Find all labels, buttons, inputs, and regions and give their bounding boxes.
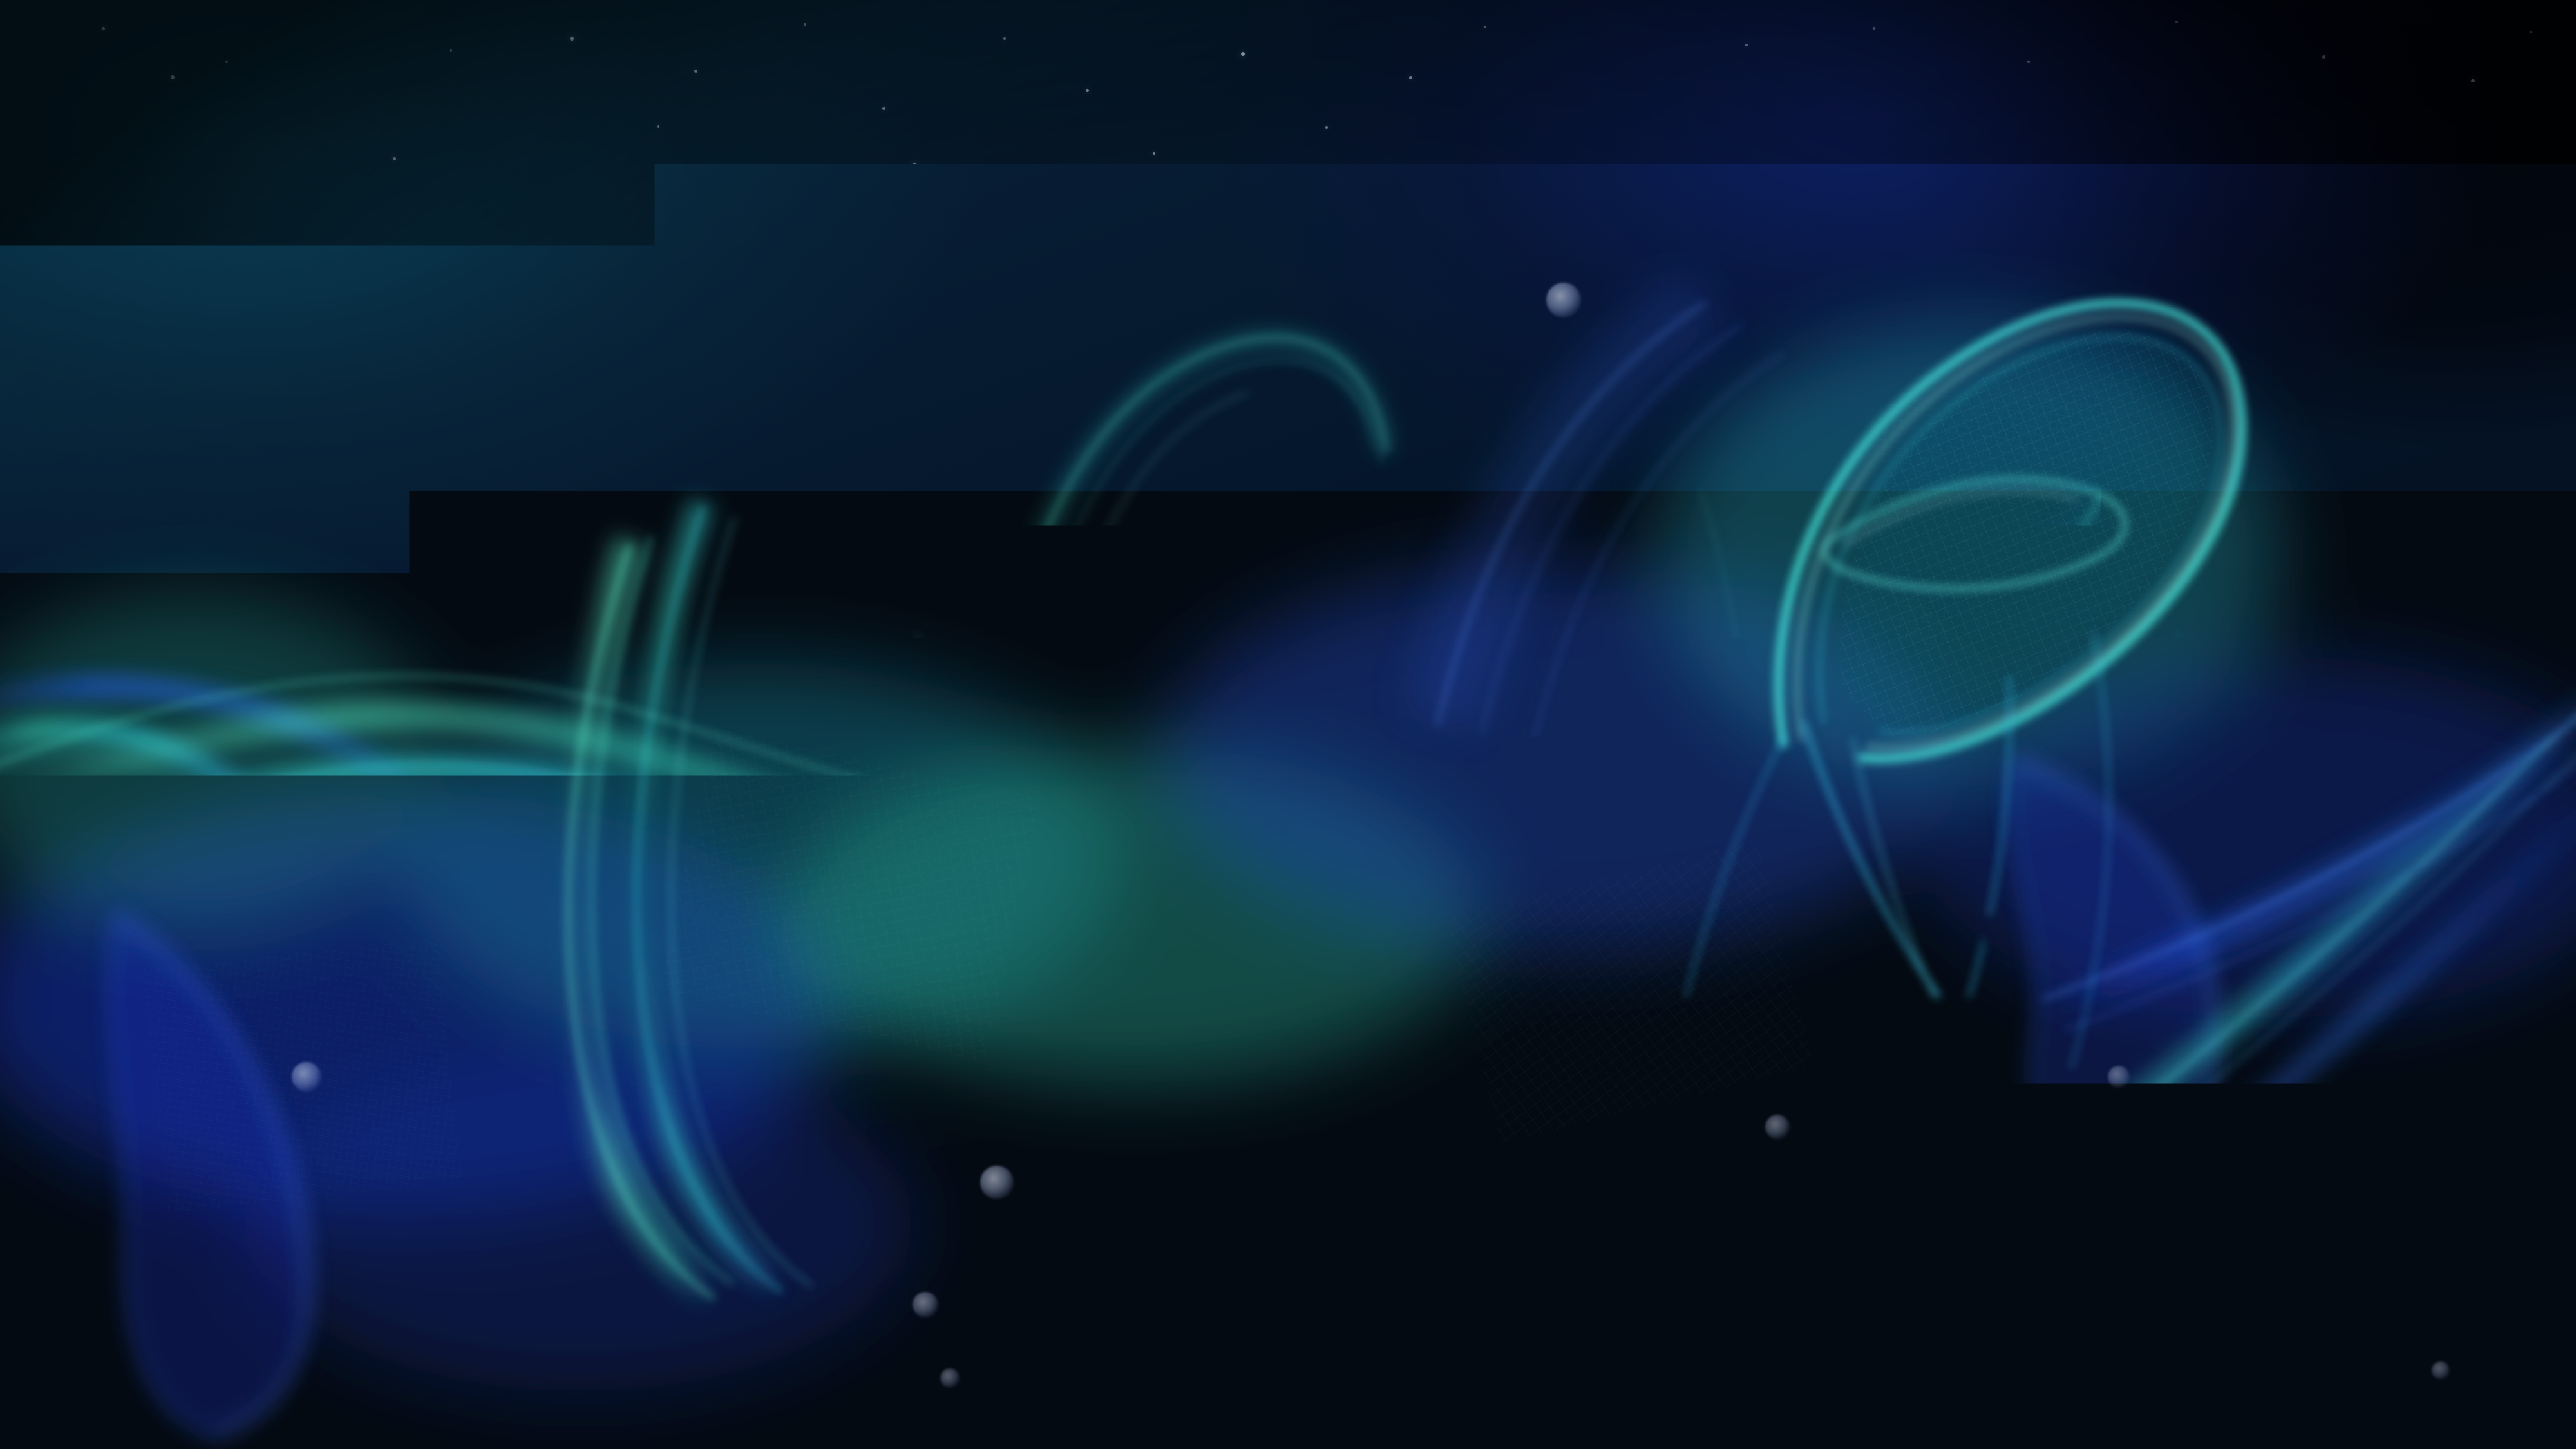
star-dot [2497,900,2500,903]
bokeh-orb [913,1292,938,1318]
star-dot [1924,1197,1927,1199]
star-dot [804,23,806,26]
star-dot [2208,952,2211,955]
star-dot [1918,211,1920,214]
star-dot [1583,1132,1586,1135]
star-dot [772,1345,774,1347]
star-dot [746,385,748,388]
star-dot [1776,269,1779,272]
star-dot [2233,1338,2236,1341]
star-dot [2124,250,2126,252]
star-dot [450,49,452,52]
star-dot [2111,1261,2114,1264]
star-dot [1409,76,1412,79]
bokeh-orb [1546,283,1581,317]
star-dot [2407,1383,2410,1387]
star-dot [2471,79,2475,83]
bokeh-orb [1765,1115,1790,1139]
star-dot [1666,95,1670,99]
star-dot [1578,146,1581,149]
star-dot [44,1209,47,1213]
star-dot [882,107,885,110]
star-dot [1745,44,1748,46]
star-dot [578,1416,582,1419]
star-dot [913,163,916,167]
star-dot [2439,301,2443,305]
star-dot [102,27,105,30]
star-dot [1815,1274,1817,1276]
star-dot [2266,276,2268,278]
star-dot [1484,26,1486,28]
star-dot [649,276,652,279]
star-dot [2322,55,2325,59]
star-dot [2150,359,2153,363]
star-dot [836,224,838,227]
star-dot [2330,1222,2333,1225]
star-dot [2504,372,2507,375]
star-dot [1132,1325,1135,1328]
star-dot [2381,1028,2385,1032]
star-dot [2317,849,2320,852]
star-dot [171,75,175,79]
star-dot [1325,126,1328,129]
star-dot [393,157,396,160]
bokeh-orb [980,1166,1014,1199]
star-dot [1222,1171,1225,1173]
star-dot [2101,160,2104,163]
star-dot [346,398,349,401]
star-dot [2291,488,2294,491]
star-dot [2472,1145,2475,1148]
star-dot [657,125,659,128]
bokeh-orb [2432,1361,2450,1379]
star-dot [2356,411,2358,413]
star-dot [2369,231,2372,234]
star-dot [76,243,79,246]
star-dot [1055,263,1058,266]
star-dot [437,237,439,240]
star-dot [2248,109,2252,113]
star-dot [1312,1390,1316,1393]
star-dot [533,346,536,350]
star-dot [1873,27,1875,30]
star-dot [1241,52,1245,56]
star-dot [2530,31,2532,33]
star-dot [694,70,697,73]
star-dot [2394,166,2397,169]
star-dot [1480,1312,1482,1315]
star-dot [2027,61,2030,63]
slide-title: Symmetry and Transformation [355,618,2170,744]
bokeh-orb [292,1062,321,1092]
star-dot [1712,359,1715,363]
star-dot [1995,295,1998,298]
bokeh-orb [940,1368,960,1388]
star-dot [1825,174,1828,177]
slide-canvas: Symmetry and Transformation [0,0,2576,1449]
star-dot [1937,398,1940,401]
star-dot [2266,1106,2268,1109]
star-dot [1948,118,1952,122]
title-block: Symmetry and Transformation [0,533,2576,829]
star-dot [82,1390,85,1392]
star-dot [225,61,228,63]
star-dot [250,289,253,292]
star-dot [1647,1370,1651,1374]
star-dot [570,37,574,41]
star-dot [1274,218,1276,220]
star-dot [1969,1351,1973,1354]
star-dot [1153,152,1155,155]
star-dot [398,1364,401,1367]
star-dot [1003,37,1006,40]
star-dot [952,1403,955,1406]
star-dot [153,359,156,363]
bokeh-orb [2108,1066,2130,1088]
star-dot [2510,1293,2514,1296]
star-dot [1428,256,1432,260]
star-dot [1086,89,1089,92]
star-dot [218,1312,221,1316]
star-dot [2175,21,2178,23]
star-dot [1577,204,1579,206]
